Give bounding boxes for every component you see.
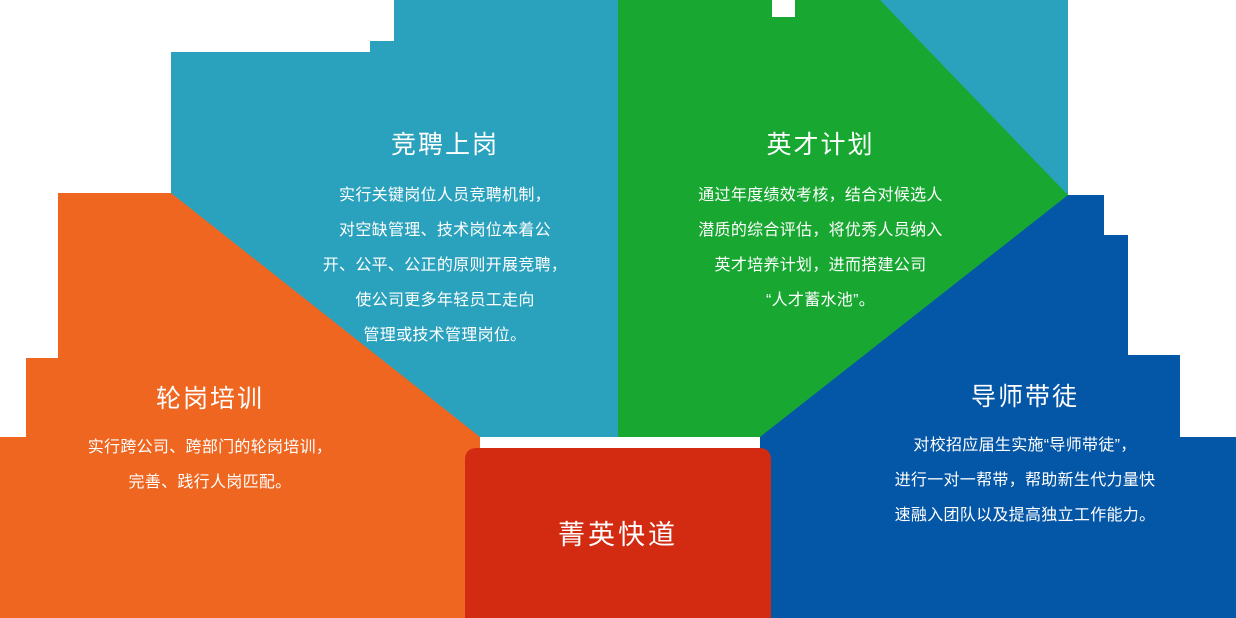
infographic-shapes [0,0,1236,618]
talent-development-infographic: 竞聘上岗 实行关键岗位人员竞聘机制， 对空缺管理、技术岗位本着公 开、公平、公正… [0,0,1236,618]
red-center-shape [465,448,771,618]
